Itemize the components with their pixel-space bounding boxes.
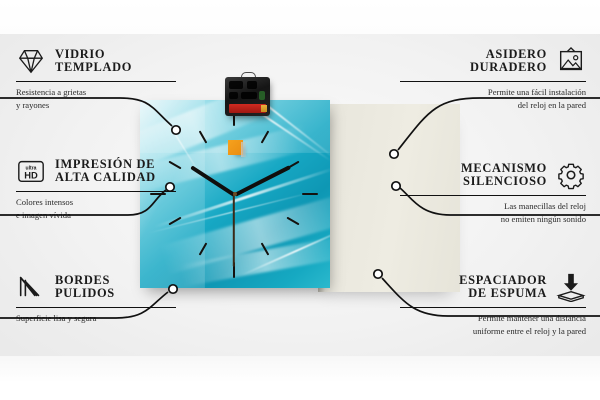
foam-spacer — [228, 140, 243, 155]
feature-espaciador-de-espuma: ESPACIADOR DE ESPUMA Permite mantener un… — [400, 272, 586, 338]
feature-impresion-alta-calidad: ultra HD IMPRESIÓN DE ALTA CALIDAD Color… — [16, 156, 192, 222]
feature-title: VIDRIO TEMPLADO — [55, 48, 132, 74]
divider — [400, 81, 586, 82]
polished-edges-icon — [16, 272, 46, 302]
foam-spacer-arrow-icon — [556, 272, 586, 302]
feature-title: ESPACIADOR DE ESPUMA — [459, 274, 547, 300]
feature-description: Las manecillas del reloj no emiten ningú… — [400, 200, 586, 226]
picture-hanger-icon — [556, 46, 586, 76]
divider — [16, 81, 176, 82]
infographic-canvas: VIDRIO TEMPLADO Resistencia a grietas y … — [0, 0, 600, 400]
clock-mechanism — [225, 72, 270, 116]
feature-mecanismo-silencioso: MECANISMO SILENCIOSO Las manecillas del … — [400, 160, 586, 226]
clock-center-pin — [233, 192, 237, 196]
divider — [16, 191, 176, 192]
divider — [400, 195, 586, 196]
feature-asidero-duradero: ASIDERO DURADERO Permite una fácil insta… — [400, 46, 586, 112]
second-hand — [233, 195, 235, 267]
divider — [400, 307, 586, 308]
ultra-hd-icon: ultra HD — [16, 156, 46, 186]
feature-title: BORDES PULIDOS — [55, 274, 115, 300]
battery — [229, 104, 266, 113]
feature-title: MECANISMO SILENCIOSO — [461, 162, 547, 188]
feature-title: IMPRESIÓN DE ALTA CALIDAD — [55, 158, 156, 184]
divider — [16, 307, 176, 308]
feature-title: ASIDERO DURADERO — [470, 48, 547, 74]
diamond-icon — [16, 46, 46, 76]
feature-description: Colores intensos e imagen vívida — [16, 196, 192, 222]
gear-icon — [556, 160, 586, 190]
feature-vidrio-templado: VIDRIO TEMPLADO Resistencia a grietas y … — [16, 46, 192, 112]
feature-description: Permite mantener una distancia uniforme … — [400, 312, 586, 338]
mechanism-body — [225, 77, 270, 116]
feature-description: Resistencia a grietas y rayones — [16, 86, 192, 112]
feature-description: Superficie lisa y segura — [16, 312, 192, 325]
svg-text:HD: HD — [24, 171, 38, 181]
feature-bordes-pulidos: BORDES PULIDOS Superficie lisa y segura — [16, 272, 192, 325]
feature-description: Permite una fácil instalación del reloj … — [400, 86, 586, 112]
